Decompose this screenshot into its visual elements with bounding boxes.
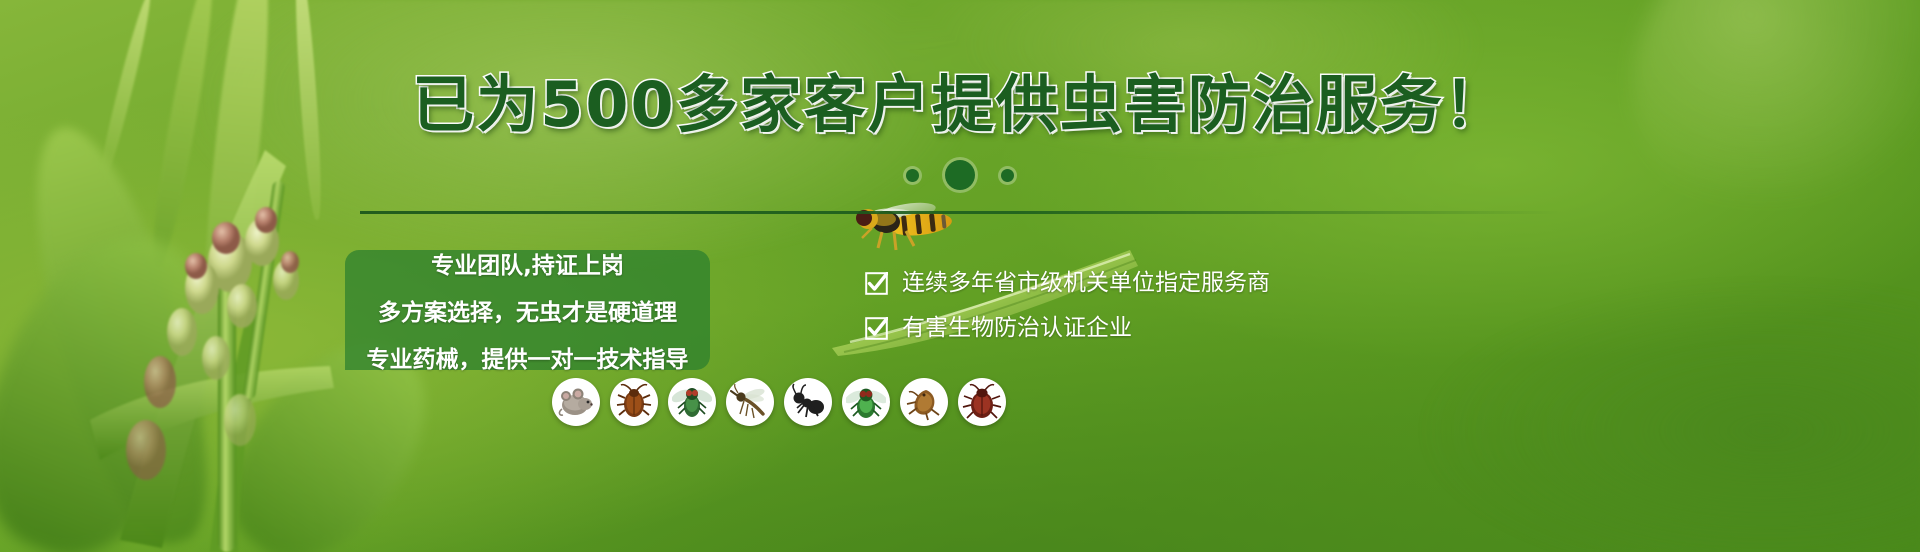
divider-rule [360, 211, 1560, 214]
green-fly-icon[interactable] [842, 378, 890, 426]
credentials-list: 连续多年省市级机关单位指定服务商 有害生物防治认证企业 [865, 272, 1270, 340]
ant-icon[interactable] [784, 378, 832, 426]
large-dot-icon [945, 160, 975, 190]
pest-icon-row [552, 378, 1006, 426]
decor-dots [0, 160, 1920, 190]
fly-icon[interactable] [668, 378, 716, 426]
small-dot-icon [1001, 169, 1014, 182]
checkbox-checked-icon [865, 317, 888, 340]
credential-text: 连续多年省市级机关单位指定服务商 [902, 272, 1270, 295]
cockroach-icon[interactable] [610, 378, 658, 426]
checkbox-checked-icon [865, 272, 888, 295]
hoverfly-insect [848, 200, 960, 256]
credential-text: 有害生物防治认证企业 [902, 317, 1132, 340]
selling-point-2: 多方案选择，无虫才是硬道理 [378, 293, 677, 327]
headline-text: 已为500多家客户提供虫害防治服务！ [412, 68, 1507, 141]
page-title: 已为500多家客户提供虫害防治服务！ [0, 74, 1920, 136]
selling-points-box: 专业团队,持证上岗 多方案选择，无虫才是硬道理 专业药械，提供一对一技术指导 [345, 250, 710, 370]
small-dot-icon [906, 169, 919, 182]
credential-item: 有害生物防治认证企业 [865, 317, 1270, 340]
promo-banner: 已为500多家客户提供虫害防治服务！ 专业团队,持证上岗 多方案选择，无虫才是硬… [0, 0, 1920, 552]
selling-point-1: 专业团队,持证上岗 [431, 246, 624, 280]
selling-point-3: 专业药械，提供一对一技术指导 [367, 340, 689, 374]
credential-item: 连续多年省市级机关单位指定服务商 [865, 272, 1270, 295]
flea-icon[interactable] [900, 378, 948, 426]
mouse-icon[interactable] [552, 378, 600, 426]
mosquito-icon[interactable] [726, 378, 774, 426]
bedbug-icon[interactable] [958, 378, 1006, 426]
